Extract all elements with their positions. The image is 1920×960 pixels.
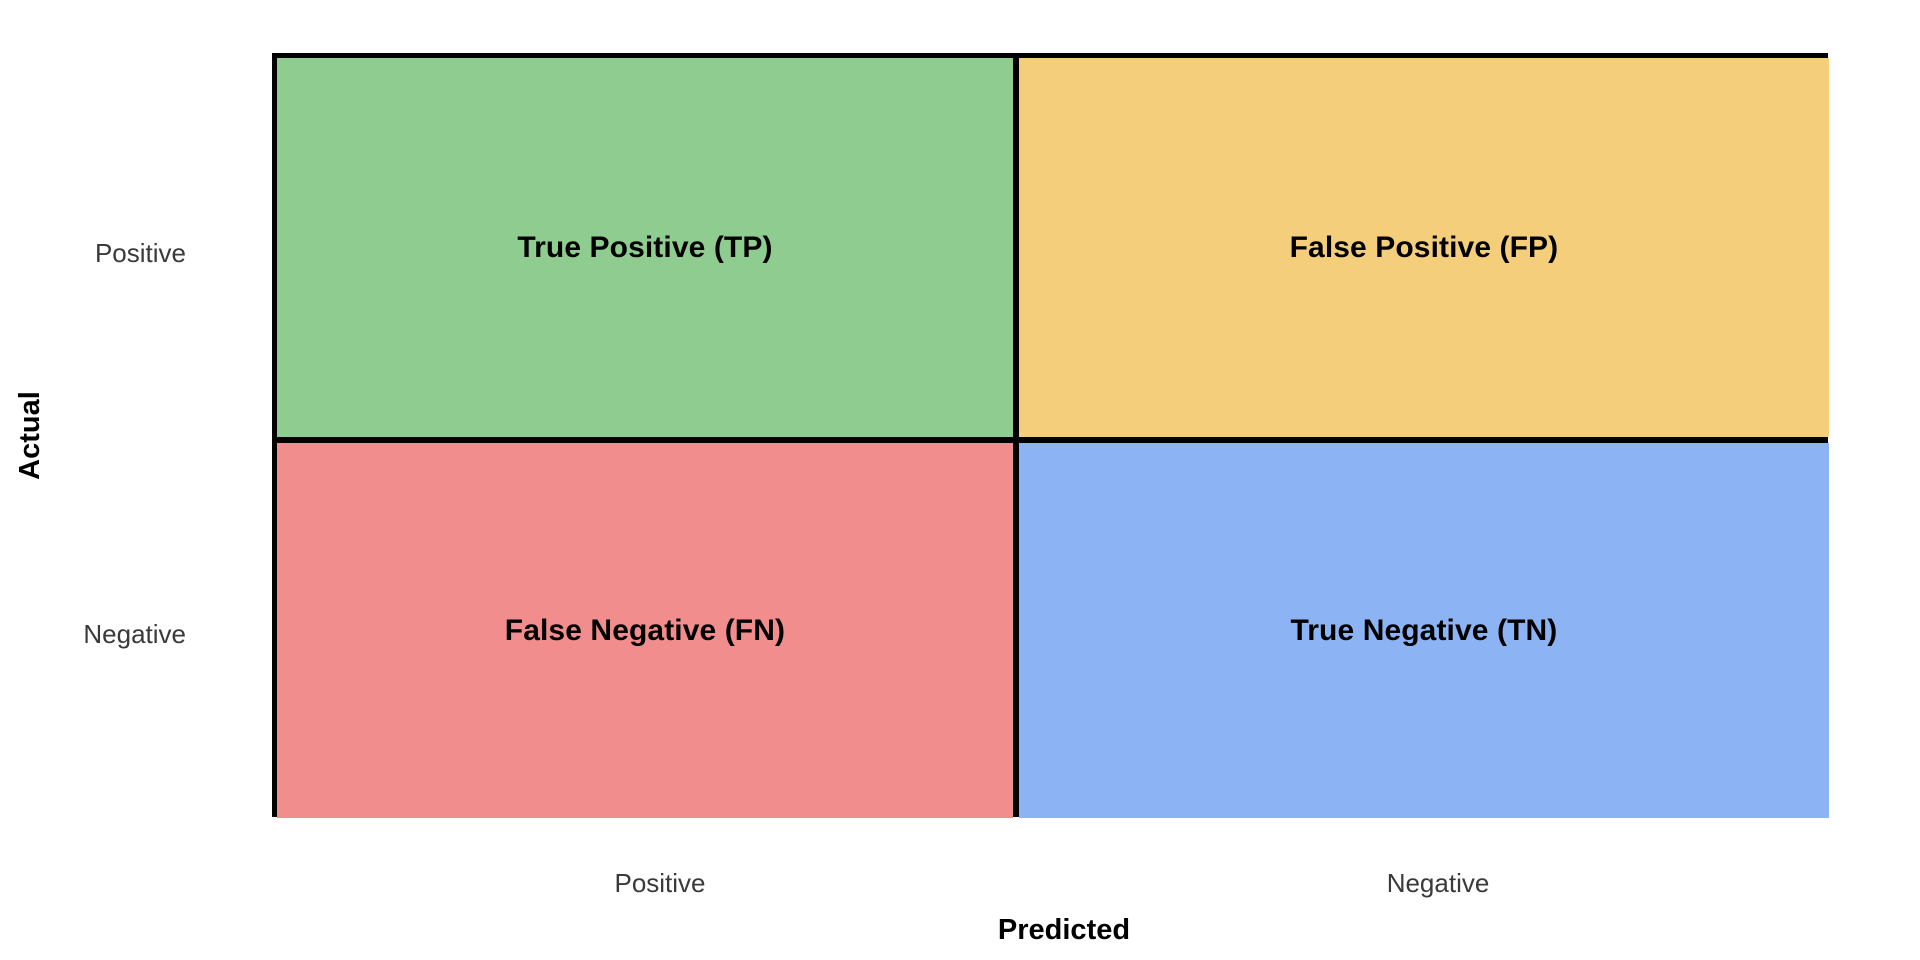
confusion-matrix-grid: True Positive (TP) False Positive (FP) F… xyxy=(272,53,1828,817)
cell-false-negative[interactable]: False Negative (FN) xyxy=(277,443,1013,818)
y-axis-title: Actual xyxy=(0,0,60,960)
cell-false-negative-label: False Negative (FN) xyxy=(505,614,785,647)
confusion-matrix-figure: Actual Positive Negative True Positive (… xyxy=(0,0,1920,960)
x-axis-title-label: Predicted xyxy=(998,914,1130,947)
x-tick-label-negative: Negative xyxy=(1387,868,1490,899)
y-axis-title-label: Actual xyxy=(14,391,47,480)
x-tick-label-positive: Positive xyxy=(614,868,705,899)
cell-true-negative[interactable]: True Negative (TN) xyxy=(1019,443,1829,818)
cell-false-positive[interactable]: False Positive (FP) xyxy=(1019,58,1829,437)
cell-true-positive[interactable]: True Positive (TP) xyxy=(277,58,1013,437)
cell-true-negative-label: True Negative (TN) xyxy=(1291,614,1558,647)
cell-true-positive-label: True Positive (TP) xyxy=(517,231,772,264)
y-tick-label-negative: Negative xyxy=(0,619,186,650)
y-tick-label-positive: Positive xyxy=(0,238,186,269)
x-axis-title: Predicted xyxy=(0,914,1920,947)
cell-false-positive-label: False Positive (FP) xyxy=(1290,231,1559,264)
